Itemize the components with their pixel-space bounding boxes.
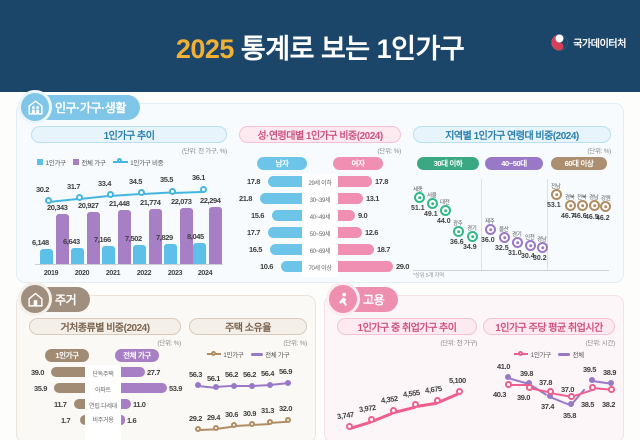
section-badge-population: 인구·가구·생활 [25,95,140,120]
value-female-0: 17.8 [375,177,388,186]
group-chip-over60s: 60대 이상 [551,157,607,170]
region-value-g2-1: 32.5 [495,245,509,252]
chart-unit: (단위: %) [413,145,611,155]
value-total-4: 56.4 [261,369,274,378]
value-single-4: 38.5 [581,400,594,409]
group-chip-total: 전체 가구 [115,349,159,362]
legend-marker-single [514,350,528,358]
value-single-2024: 8,045 [187,232,204,241]
category-age-2: 40~49세 [302,212,338,221]
chart-plot-area: 3,747 3,972 4,352 4,555 4,675 5,100 [337,351,477,440]
group-divider-1 [481,179,482,271]
region-value-g2-0: 36.0 [481,237,495,244]
people-household-glyph [27,99,44,116]
legend-item-total: 전체 [558,349,584,359]
section-housing: 주거 거처종류별 비중(2024) (단위: %) 1인가구 전체 가구 39.… [16,295,316,440]
chart-title: 1인가구 중 취업가구 추이 [337,318,477,335]
chart-unit: (단위: %) [29,337,181,347]
value-total-3: 1.6 [127,416,136,425]
chart-legend: 1인가구 전체 가구 [189,349,307,359]
group-chip-under30s: 30대 이하 [417,157,479,170]
value-single-2021: 7,166 [94,235,111,244]
chart-legend: 1인가구 전체 [483,349,615,359]
region-dot-g1-4 [467,231,478,242]
value-female-1: 13.1 [366,194,379,203]
value-share-2022: 34.5 [129,177,142,186]
chart-sex-age-share: 성·연령대별 1인가구 비중(2024) (단위: %) 남자 여자 17.8 … [239,126,401,279]
value-single-1: 39.0 [517,393,530,402]
group-chip-single: 1인가구 [45,349,89,362]
value-female-5: 29.0 [396,262,409,271]
section-label-housing: 주거 [55,291,76,308]
legend-swatch-single [37,159,43,165]
chart-title: 지역별 1인가구 연령대 비중(2024) [413,126,611,143]
house-icon [18,282,52,316]
region-dot-g3-0 [551,189,562,200]
section-employment: 고용 1인가구 중 취업가구 추이 (단위: 천 가구) 3,747 3,972 [324,295,624,440]
section-label-population: 인구·가구·생활 [55,99,126,116]
region-value-g2-2: 31.0 [508,250,522,257]
chart-one-person-household-trend: 1인가구 추이 (단위: 천 가구, %) 1인가구 전체 가구 1인가구 비중 [31,126,227,280]
value-all-0: 41.0 [497,362,510,371]
legend-label-single: 1인가구 [46,157,66,167]
chart-dwelling-type-share: 거처종류별 비중(2024) (단위: %) 1인가구 전체 가구 39.0 3… [29,318,181,440]
chart-plot-area: 남자 여자 17.8 21.8 15.6 17.7 16.5 10.6 [239,157,401,279]
legend-label-total: 전체 가구 [81,157,105,167]
legend-item-single: 1인가구 [37,157,66,167]
value-single-2020: 6,643 [63,237,80,246]
value-all-5: 38.9 [603,368,616,377]
category-dwelling-3: 비주거용 [85,415,121,424]
value-single-2023: 7,829 [156,233,173,242]
infographic-page: 2025 통계로 보는 1인가구 국가데이터처 인구·가구·생활 [0,0,640,440]
people-household-icon [18,90,52,124]
chart-legend: 1인가구 전체 가구 1인가구 비중 [31,157,227,167]
brand-name: 국가데이터처 [573,35,626,50]
value-all-2: 37.4 [541,402,554,411]
chart-plot-area: 56.3 56.1 56.2 56.2 56.4 56.9 29.2 [189,361,307,440]
value-all-4: 39.5 [583,365,596,374]
xtick-2024: 2024 [192,270,218,277]
value-all-3: 35.8 [563,411,576,420]
value-single-2: 37.8 [539,378,552,387]
region-dot-g2-3 [525,240,536,251]
region-value-g1-0: 51.1 [411,205,425,212]
value-emp-4: 4,675 [424,384,442,395]
value-single-3: 1.7 [61,416,70,425]
legend-item-total: 전체 가구 [73,157,106,167]
value-share-2021: 33.4 [98,179,111,188]
group-divider-2 [547,179,548,271]
value-total-2020: 20,927 [78,201,99,210]
region-value-g1-1: 49.1 [424,211,438,218]
value-female-3: 12.6 [365,228,378,237]
value-female-4: 18.7 [377,245,390,254]
value-total-2021: 21,448 [109,199,130,208]
chart-unit: (단위: 시간) [483,337,615,347]
group-chip-female: 여자 [333,157,383,170]
category-age-1: 30~39세 [302,195,338,204]
legend-label-single: 1인가구 [531,349,551,359]
value-male-0: 17.8 [247,177,260,186]
title-year: 2025 [176,34,234,64]
value-single-2: 30.6 [225,410,238,419]
group-chip-male: 남자 [257,157,307,170]
value-share-2020: 31.7 [67,182,80,191]
value-total-2: 56.2 [225,370,238,379]
region-dot-g3-3 [589,200,600,211]
value-share-2023: 35.5 [160,175,173,184]
legend-marker-single [207,350,221,358]
region-value-g3-0: 53.1 [547,202,561,209]
value-single-5: 38.2 [602,400,615,409]
value-single-3: 30.9 [243,409,256,418]
value-single-2019: 6,148 [32,238,49,247]
chart-home-ownership-rate: 주택 소유율 (단위: %) 1인가구 전체 가구 [189,318,307,440]
legend-item-total: 전체 가구 [251,349,290,359]
region-value-g1-3: 36.6 [450,239,464,246]
value-total-0: 27.7 [147,368,160,377]
xtick-2023: 2023 [162,270,188,277]
chart-unit: (단위: %) [239,145,401,155]
legend-label-single: 1인가구 [223,349,243,359]
value-single-0: 40.3 [493,390,506,399]
chart-plot-area: 30.2 31.7 33.4 34.5 35.5 36.1 20,343 20,… [31,168,227,280]
value-single-3: 37.0 [561,385,574,394]
chart-employed-one-person-household-trend: 1인가구 중 취업가구 추이 (단위: 천 가구) 3,747 3,972 4,… [337,318,477,440]
chart-region-age-share: 지역별 1인가구 연령대 비중(2024) (단위: %) 30대 이하 40~… [413,126,611,279]
legend-item-single: 1인가구 [514,349,551,359]
value-total-3: 56.2 [243,370,256,379]
value-single-0: 39.0 [31,368,44,377]
value-single-0: 29.2 [189,414,202,423]
value-share-2024: 36.1 [192,173,205,182]
brand-logo: 국가데이터처 [551,34,626,51]
value-male-2: 15.6 [251,211,264,220]
chart-plot-area: 30대 이하 40~50대 60대 이상 세종 51.1 서울 49.1 대전 … [413,157,611,279]
chart-footnote: *상위 5개 지역 [413,271,444,279]
value-total-2022: 21,774 [140,198,161,207]
region-dot-g2-2 [512,237,523,248]
value-total-2023: 22,073 [171,197,192,206]
section-label-employment: 고용 [363,291,384,308]
section-badge-housing: 주거 [25,287,90,312]
legend-label-total: 전체 [572,349,583,359]
value-total-0: 56.3 [189,370,202,379]
value-male-4: 16.5 [249,245,262,254]
region-value-g3-4: 46.2 [596,215,610,222]
region-dot-g3-4 [600,201,611,212]
region-dot-g3-1 [565,200,576,211]
x-axis [35,264,223,265]
category-dwelling-1: 아파트 [85,385,121,394]
region-dot-g1-1 [427,198,438,209]
region-dot-g1-0 [414,192,425,203]
category-age-0: 29세 이하 [302,178,338,187]
house-glyph [27,291,44,308]
legend-swatch-total [73,159,79,165]
legend-item-share: 1인가구 비중 [113,157,164,167]
legend-label-total: 전체 가구 [265,349,289,359]
chart-unit: (단위: 천 가구) [337,337,477,347]
value-single-5: 32.0 [279,404,292,413]
value-single-1: 29.4 [207,413,220,422]
value-all-1: 39.8 [520,369,533,378]
value-single-1: 35.9 [34,384,47,393]
value-single-4: 31.3 [261,406,274,415]
category-age-4: 60~69세 [302,246,338,255]
value-emp-2: 4,352 [380,394,398,405]
category-column [302,174,338,277]
korea-gov-taegeuk-icon [551,34,568,51]
category-dwelling-0: 단독주택 [85,369,121,378]
chart-unit: (단위: %) [189,337,307,347]
page-header: 2025 통계로 보는 1인가구 국가데이터처 [0,0,640,92]
value-total-1: 53.9 [169,384,182,393]
value-male-3: 17.7 [247,228,260,237]
category-dwelling-2: 연립·다세대 [85,401,121,410]
value-emp-0: 3,747 [336,410,354,421]
section-population: 인구·가구·생활 1인가구 추이 (단위: 천 가구, %) 1인가구 전체 가… [16,103,624,283]
region-dot-g3-2 [577,200,588,211]
value-male-1: 21.8 [239,194,252,203]
value-emp-1: 3,972 [358,403,376,414]
region-dot-g1-3 [453,226,464,237]
region-dot-g2-4 [537,242,548,253]
xtick-2022: 2022 [131,270,157,277]
legend-item-single: 1인가구 [207,349,244,359]
page-title: 2025 통계로 보는 1인가구 [176,27,464,66]
legend-label-share: 1인가구 비중 [130,157,163,167]
region-dot-g2-0 [485,224,496,235]
value-single-2022: 7,502 [125,234,142,243]
chart-title: 성·연령대별 1인가구 비중(2024) [239,126,401,143]
section-badge-employment: 고용 [333,287,398,312]
value-female-2: 9.0 [358,211,367,220]
chart-plot-area: 41.0 39.8 37.4 35.8 39.5 38.9 40.3 [483,361,615,440]
value-share-2019: 30.2 [36,185,49,194]
legend-marker-total [558,353,570,356]
chart-title: 주택 소유율 [189,318,307,335]
title-text: 통계로 보는 1인가구 [241,34,464,64]
legend-marker-share [113,158,128,166]
category-age-3: 50~59세 [302,229,338,238]
region-value-g1-4: 34.9 [463,244,477,251]
xtick-2021: 2021 [100,270,126,277]
value-total-2019: 20,343 [47,203,68,212]
xtick-2020: 2020 [69,270,95,277]
group-chip-40s50s: 40~50대 [485,157,543,170]
value-emp-3: 4,555 [402,388,420,399]
region-value-g1-2: 44.0 [437,218,451,225]
chart-title: 1인가구 추이 [31,126,227,143]
chart-title: 1인가구 주당 평균 취업시간 [483,318,615,335]
legend-marker-total [251,353,263,356]
region-dot-g2-1 [499,232,510,243]
value-emp-5: 5,100 [449,376,466,385]
worker-person-glyph [335,291,352,308]
value-male-5: 10.6 [260,262,273,271]
value-total-5: 56.9 [279,367,292,376]
chart-title: 거처종류별 비중(2024) [29,318,181,335]
chart-plot-area: 1인가구 전체 가구 39.0 35.9 11.7 1.7 27.7 53.9 [29,349,181,440]
value-total-1: 56.1 [207,374,220,383]
xtick-2019: 2019 [38,270,64,277]
chart-unit: (단위: 천 가구, %) [31,145,227,155]
region-dot-g1-2 [440,205,451,216]
chart-weekly-average-working-hours: 1인가구 주당 평균 취업시간 (단위: 시간) 1인가구 전체 [483,318,615,440]
category-age-5: 70세 이상 [302,263,338,272]
value-total-2024: 22,294 [200,196,221,205]
worker-person-icon [326,282,360,316]
value-total-2: 11.0 [133,400,146,409]
region-value-g2-4: 30.2 [533,255,547,262]
value-single-2: 11.7 [54,400,67,409]
